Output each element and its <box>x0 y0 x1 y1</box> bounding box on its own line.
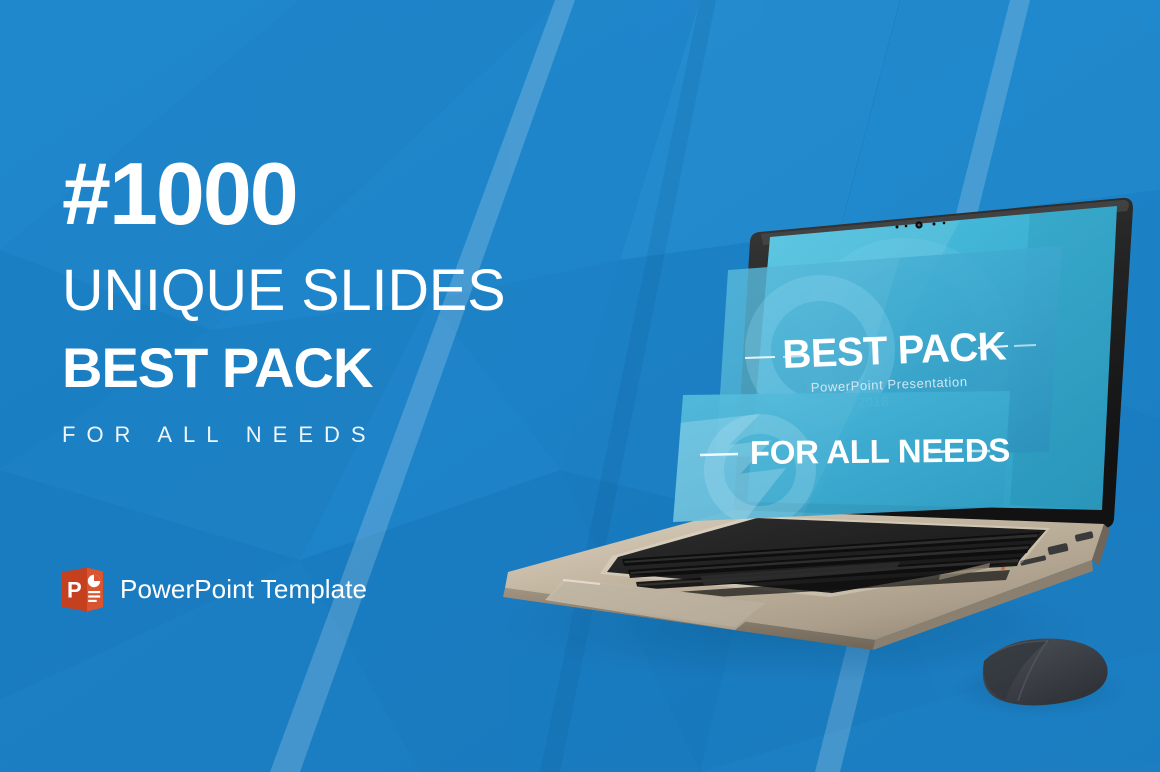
hero-line-sub: FOR ALL NEEDS <box>62 422 542 448</box>
powerpoint-template-badge: P PowerPoint Template <box>62 566 367 613</box>
svg-text:P: P <box>67 578 82 603</box>
promo-banner: #1000 UNIQUE SLIDES BEST PACK FOR ALL NE… <box>0 0 1160 772</box>
hero-count: #1000 <box>62 152 542 236</box>
powerpoint-icon: P <box>62 566 103 613</box>
hero-text-block: #1000 UNIQUE SLIDES BEST PACK FOR ALL NE… <box>62 152 542 448</box>
hero-line-unique: UNIQUE SLIDES <box>62 262 537 320</box>
hero-line-best: BEST PACK <box>62 340 542 396</box>
powerpoint-template-label: PowerPoint Template <box>120 574 367 605</box>
